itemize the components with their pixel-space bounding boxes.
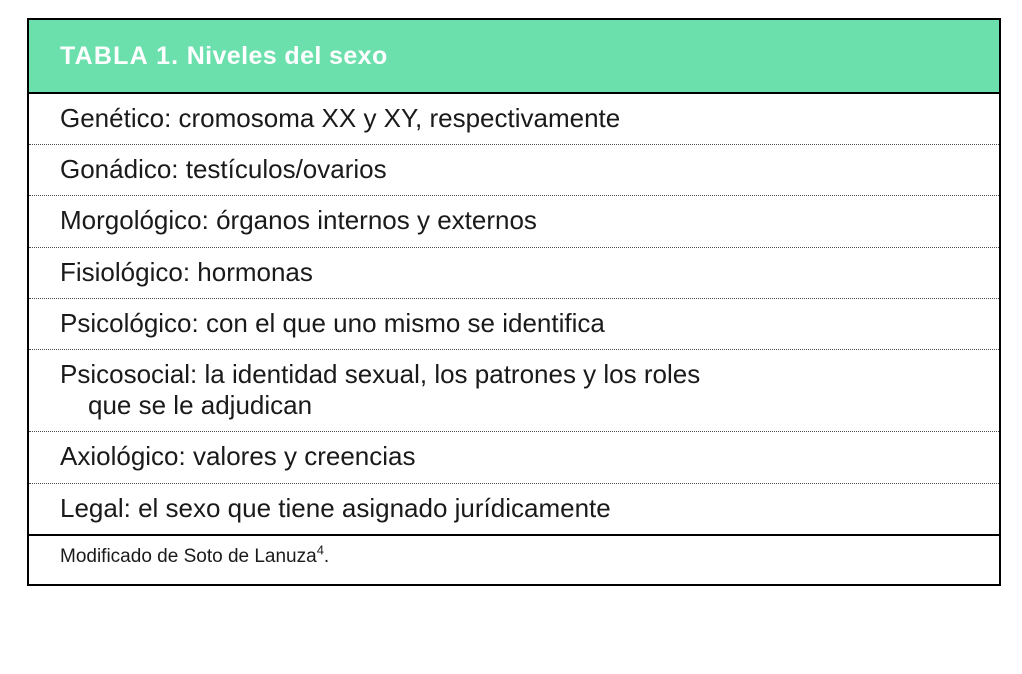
table-row: Fisiológico: hormonas — [29, 247, 999, 298]
table-row: Psicológico: con el que uno mismo se ide… — [29, 298, 999, 349]
table-1-card: TABLA 1. Niveles del sexo Genético: crom… — [27, 18, 1001, 586]
table-row: Gonádico: testículos/ovarios — [29, 144, 999, 195]
page-root: TABLA 1. Niveles del sexo Genético: crom… — [0, 0, 1022, 674]
table-footnote: Modificado de Soto de Lanuza4. — [29, 534, 999, 585]
table-footnote-suffix: . — [324, 546, 329, 567]
table-row-text: Psicológico: con el que uno mismo se ide… — [60, 308, 605, 338]
table-row-text: Morgológico: órganos internos y externos — [60, 205, 537, 235]
table-row-text: Axiológico: valores y creencias — [60, 441, 416, 471]
table-row: Psicosocial: la identidad sexual, los pa… — [29, 349, 999, 431]
table-row-list: Genético: cromosoma XX y XY, respectivam… — [29, 94, 999, 534]
table-row-text: Gonádico: testículos/ovarios — [60, 154, 387, 184]
table-caption-bar: TABLA 1. Niveles del sexo — [29, 20, 999, 94]
table-row-text: Fisiológico: hormonas — [60, 257, 313, 287]
table-footnote-superscript: 4 — [317, 542, 324, 557]
table-row: Axiológico: valores y creencias — [29, 431, 999, 482]
table-row: Genético: cromosoma XX y XY, respectivam… — [29, 94, 999, 144]
table-row-continuation: que se le adjudican — [60, 390, 981, 421]
table-row-text: Psicosocial: la identidad sexual, los pa… — [60, 359, 700, 389]
table-caption-prefix: TABLA 1. — [60, 42, 179, 70]
table-caption-rest: Niveles del sexo — [187, 42, 388, 70]
table-row-text: Legal: el sexo que tiene asignado jurídi… — [60, 493, 611, 523]
table-footnote-text: Modificado de Soto de Lanuza — [60, 546, 317, 567]
table-caption-title: TABLA 1. Niveles del sexo — [60, 44, 388, 69]
table-row-text: Genético: cromosoma XX y XY, respectivam… — [60, 103, 620, 133]
table-row: Morgológico: órganos internos y externos — [29, 195, 999, 246]
table-row: Legal: el sexo que tiene asignado jurídi… — [29, 483, 999, 534]
